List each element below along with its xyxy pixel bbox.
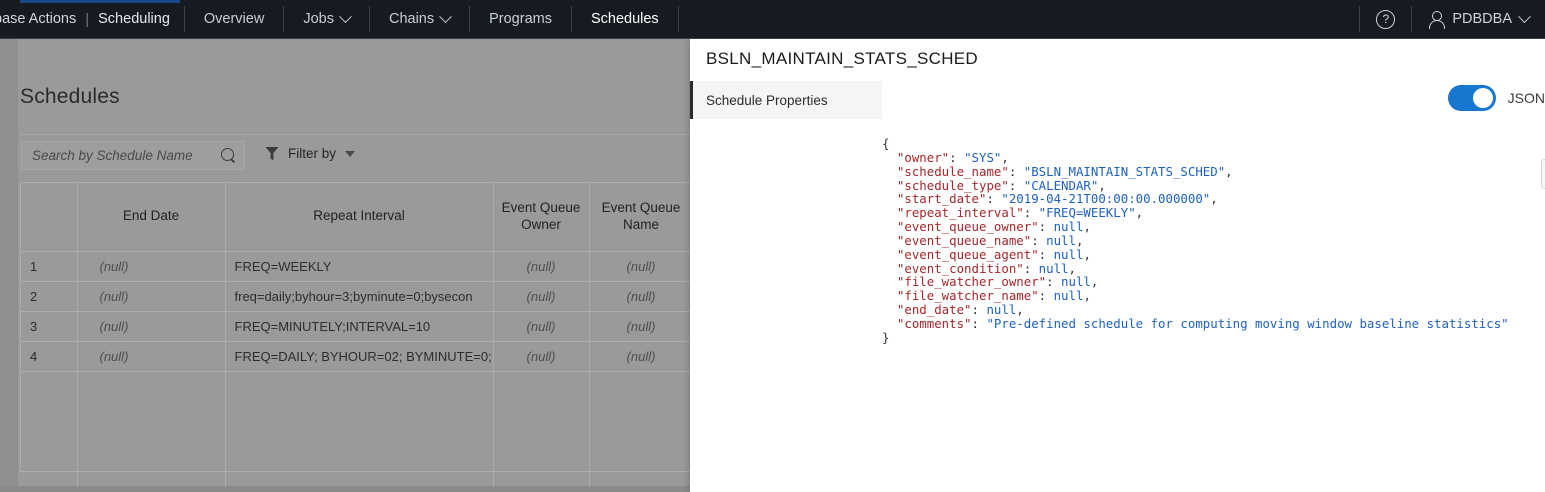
table-row[interactable]: 1 (null) FREQ=WEEKLY (null) (null) (21, 251, 693, 281)
nav-tab-jobs[interactable]: Jobs (284, 0, 369, 38)
json-toggle-row: JSON (1448, 85, 1545, 111)
cell-event-queue-name: (null) (589, 251, 693, 281)
filter-by-button[interactable]: Filter by (265, 146, 355, 161)
nav-tab-label: Programs (489, 11, 552, 27)
breadcrumb: base Actions | Scheduling (0, 0, 184, 38)
column-header-event-queue-owner[interactable]: Event Queue Owner (493, 183, 589, 251)
panel-content: JSON { "owner": "SYS", "schedule_name": … (882, 79, 1545, 492)
panel-title: BSLN_MAINTAIN_STATS_SCHED (706, 49, 978, 69)
filter-by-label: Filter by (288, 146, 336, 161)
cell-repeat-interval: freq=daily;byhour=3;byminute=0;bysecon (225, 281, 493, 311)
side-tab-label: Schedule Properties (706, 93, 828, 108)
funnel-icon (265, 147, 279, 161)
cell-event-queue-owner: (null) (493, 251, 589, 281)
user-menu-label: PDBDBA (1452, 11, 1512, 27)
breadcrumb-scheduling[interactable]: Scheduling (98, 11, 170, 27)
cell-row-num: 4 (21, 341, 77, 371)
cell-event-queue-name: (null) (589, 341, 693, 371)
cell-end-date: (null) (77, 311, 225, 341)
panel-side-tabs: Schedule Properties (690, 79, 882, 492)
cell-event-queue-name: (null) (589, 311, 693, 341)
nav-tab-label: Schedules (591, 11, 659, 27)
search-icon[interactable] (221, 148, 236, 163)
cell-repeat-interval: FREQ=MINUTELY;INTERVAL=10 (225, 311, 493, 341)
top-navigation-bar: base Actions | Scheduling Overview Jobs … (0, 0, 1545, 39)
nav-tab-label: Jobs (303, 11, 334, 27)
schedule-detail-panel: BSLN_MAINTAIN_STATS_SCHED Schedule Prope… (690, 39, 1545, 492)
question-mark-circle-icon: ? (1376, 10, 1395, 29)
column-header-row-num[interactable] (21, 183, 77, 251)
search-input[interactable]: Search by Schedule Name (21, 141, 245, 170)
chevron-down-icon (439, 10, 452, 23)
nav-tab-label: Chains (389, 11, 434, 27)
toolbar-divider (20, 134, 692, 135)
page-title: Schedules (20, 85, 120, 109)
cell-end-date: (null) (77, 251, 225, 281)
nav-spacer (679, 0, 1360, 38)
breadcrumb-separator: | (85, 11, 89, 28)
page-left-edge (0, 39, 18, 492)
table-row[interactable]: 4 (null) FREQ=DAILY; BYHOUR=02; BYMINUTE… (21, 341, 693, 371)
cell-end-date: (null) (77, 341, 225, 371)
nav-tab-programs[interactable]: Programs (470, 0, 571, 38)
cell-event-queue-owner: (null) (493, 341, 589, 371)
cell-repeat-interval: FREQ=DAILY; BYHOUR=02; BYMINUTE=0; (225, 341, 493, 371)
json-toggle-switch[interactable] (1448, 85, 1496, 111)
table-empty-space (21, 371, 693, 487)
top-blue-hairline (20, 0, 180, 3)
cell-event-queue-owner: (null) (493, 281, 589, 311)
help-button[interactable]: ? (1360, 0, 1411, 38)
side-tab-schedule-properties[interactable]: Schedule Properties (690, 81, 882, 119)
table-row[interactable]: 3 (null) FREQ=MINUTELY;INTERVAL=10 (null… (21, 311, 693, 341)
json-viewer[interactable]: { "owner": "SYS", "schedule_name": "BSLN… (882, 137, 1509, 345)
toggle-knob (1473, 88, 1493, 108)
cell-event-queue-name: (null) (589, 281, 693, 311)
column-header-end-date[interactable]: End Date (77, 183, 225, 251)
cell-end-date: (null) (77, 281, 225, 311)
table-header-row: End Date Repeat Interval Event Queue Own… (21, 183, 693, 251)
nav-tab-chains[interactable]: Chains (370, 0, 469, 38)
breadcrumb-database-actions[interactable]: base Actions (0, 11, 76, 27)
table-row[interactable]: 2 (null) freq=daily;byhour=3;byminute=0;… (21, 281, 693, 311)
chevron-down-icon (1518, 10, 1531, 23)
user-menu-button[interactable]: PDBDBA (1412, 0, 1545, 38)
json-toggle-label: JSON (1508, 90, 1545, 106)
cell-row-num: 3 (21, 311, 77, 341)
schedules-table[interactable]: End Date Repeat Interval Event Queue Own… (20, 182, 692, 472)
cell-row-num: 1 (21, 251, 77, 281)
cell-repeat-interval: FREQ=WEEKLY (225, 251, 493, 281)
search-placeholder: Search by Schedule Name (32, 148, 221, 163)
cell-row-num: 2 (21, 281, 77, 311)
panel-header: BSLN_MAINTAIN_STATS_SCHED (690, 39, 1545, 79)
copy-button[interactable] (1541, 159, 1545, 189)
nav-tab-label: Overview (204, 11, 264, 27)
column-header-repeat-interval[interactable]: Repeat Interval (225, 183, 493, 251)
panel-body: Schedule Properties JSON { "owner": "SYS… (690, 79, 1545, 492)
cell-event-queue-owner: (null) (493, 311, 589, 341)
chevron-down-icon (345, 151, 355, 157)
nav-tab-overview[interactable]: Overview (185, 0, 283, 38)
nav-tab-schedules[interactable]: Schedules (572, 0, 678, 38)
column-header-event-queue-name[interactable]: Event Queue Name (589, 183, 693, 251)
person-icon (1428, 11, 1444, 28)
chevron-down-icon (339, 10, 352, 23)
